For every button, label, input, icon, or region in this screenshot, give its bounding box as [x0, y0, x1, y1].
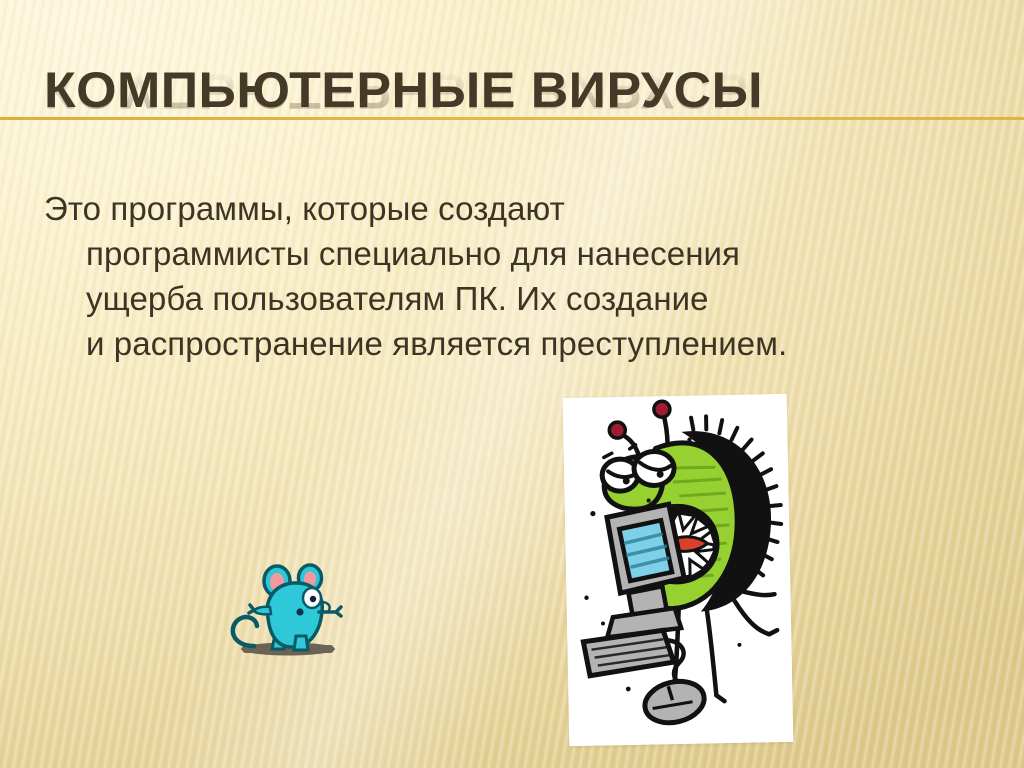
- body-line-2: программисты специально для нанесения: [44, 231, 1004, 276]
- virus-image-card: [563, 394, 794, 746]
- body-paragraph: Это программы, которые создают программи…: [44, 186, 1004, 366]
- title-divider-rule: [0, 117, 1024, 120]
- body-line-4: и распространение является преступлением…: [44, 321, 1004, 366]
- slide-canvas: Компьютерные вирусы Компьютерные вирусы …: [0, 0, 1024, 768]
- body-line-3: ущерба пользователям ПК. Их создание: [44, 276, 1004, 321]
- page-title-reflection: Компьютерные вирусы: [44, 65, 1022, 117]
- cartoon-virus-eating-computer-icon: [563, 394, 794, 746]
- body-line-1: Это программы, которые создают: [44, 186, 1004, 231]
- cartoon-mouse-icon: [224, 550, 354, 670]
- title-block: Компьютерные вирусы Компьютерные вирусы: [44, 64, 984, 164]
- cartoon-mouse-image: [224, 550, 354, 670]
